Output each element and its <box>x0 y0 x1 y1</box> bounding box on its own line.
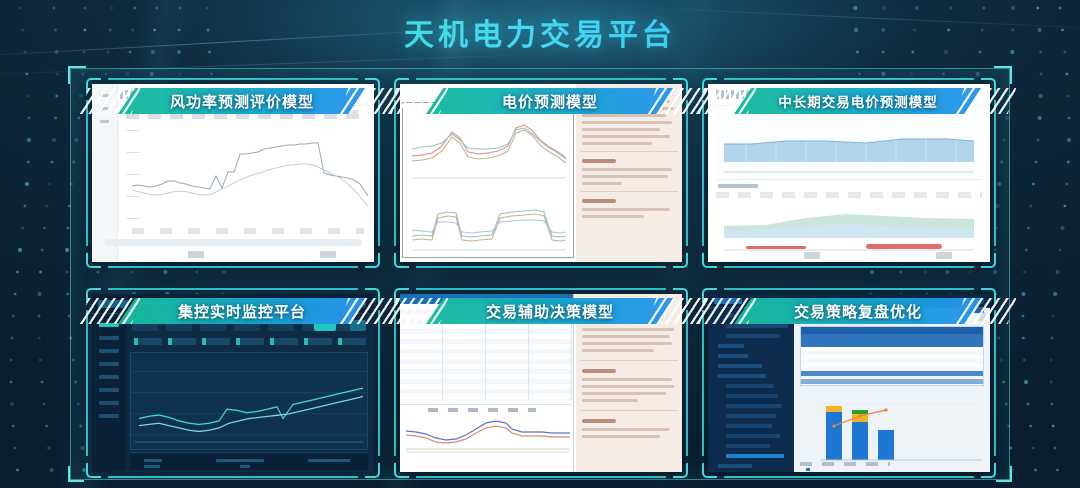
card-trade-decision[interactable]: 交易辅助决策模型 <box>400 294 682 472</box>
page-title: 天机电力交易平台 <box>0 10 1080 54</box>
card-price-forecast[interactable]: 电价预测模型 <box>400 84 682 262</box>
notes-heading <box>582 369 616 373</box>
card-strategy-review[interactable]: 交易策略复盘优化 <box>708 294 990 472</box>
card-title: 交易辅助决策模型 <box>486 301 614 322</box>
tree-sidebar[interactable] <box>708 308 794 472</box>
line-chart-bids <box>400 405 574 459</box>
line-chart-realtime <box>408 192 568 256</box>
app-sidenav[interactable] <box>92 314 126 472</box>
horizontal-scrollbar[interactable] <box>104 239 362 246</box>
line-chart-dayahead <box>408 116 568 186</box>
area-chart-monthly <box>716 114 982 180</box>
notes-heading <box>582 159 616 163</box>
chart-legend <box>428 408 536 412</box>
footer-bar <box>130 452 368 470</box>
table-header <box>801 334 983 347</box>
card-title-banner: 风功率预测评价模型 <box>118 88 366 114</box>
card-grid: 风功率预测评价模型 <box>92 84 990 472</box>
card-midlong-price-forecast[interactable]: 中长期交易电价预测模型 <box>708 84 990 262</box>
table-title-bar <box>801 327 983 334</box>
card-title: 风功率预测评价模型 <box>170 91 314 112</box>
card-title-banner: 电价预测模型 <box>426 88 674 114</box>
chart-legend <box>800 462 890 466</box>
chart-legend <box>92 251 374 258</box>
series-checkbox-row[interactable] <box>134 338 368 345</box>
report-panel <box>794 308 990 472</box>
card-title-banner: 中长期交易电价预测模型 <box>734 88 982 114</box>
card-title: 电价预测模型 <box>502 91 598 112</box>
area-chart-yearly <box>716 204 982 256</box>
card-title-banner: 交易辅助决策模型 <box>426 298 674 324</box>
card-title: 中长期交易电价预测模型 <box>778 91 938 111</box>
card-title-banner: 交易策略复盘优化 <box>734 298 982 324</box>
bar-chart-review <box>800 392 986 472</box>
card-title: 集控实时监控平台 <box>178 301 306 322</box>
card-title: 交易策略复盘优化 <box>794 301 922 322</box>
chart-panel <box>130 352 368 450</box>
line-chart-monitor <box>131 353 367 449</box>
notes-heading <box>582 199 616 203</box>
card-wind-power-forecast[interactable]: 风功率预测评价模型 <box>92 84 374 262</box>
x-axis-labels <box>132 228 364 234</box>
card-title-banner: 集控实时监控平台 <box>118 298 366 324</box>
line-chart-wind <box>132 128 368 224</box>
card-realtime-monitor[interactable]: 集控实时监控平台 <box>92 294 374 472</box>
notes-heading <box>582 419 616 423</box>
